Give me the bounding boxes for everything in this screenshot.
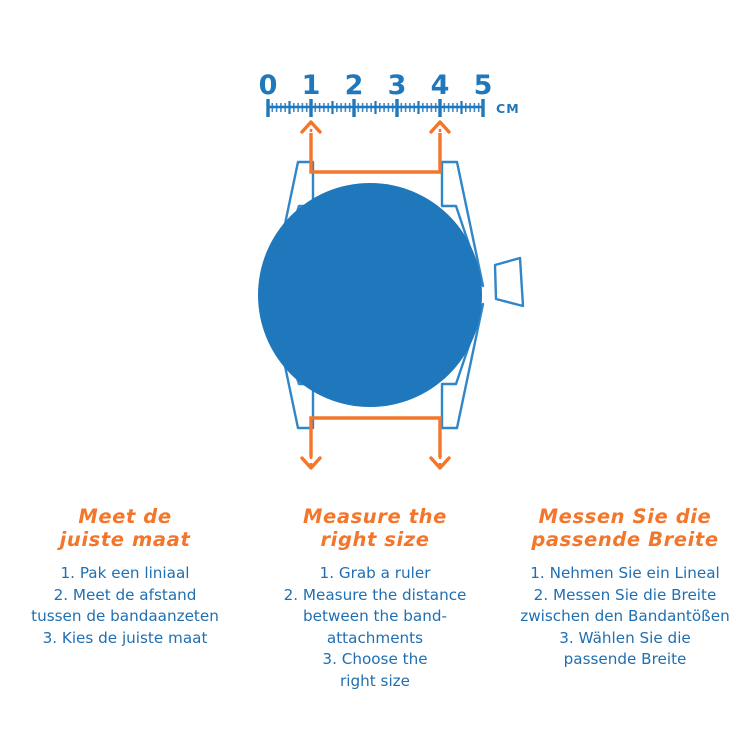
instruction-heading-nl: Meet de juiste maat (6, 505, 244, 551)
watch-illustration (258, 162, 523, 428)
ruler-label-0: 0 (259, 70, 278, 101)
step-line: 3. Wählen Sie die (506, 628, 744, 650)
watch-crown (495, 258, 523, 306)
step-line: 2. Meet de afstand (6, 585, 244, 607)
ruler-label-1: 1 (302, 70, 321, 101)
step-line: 2. Messen Sie die Breite (506, 585, 744, 607)
ruler-label-2: 2 (345, 70, 364, 101)
instruction-heading-en: Measure the right size (256, 505, 494, 551)
ruler-label-4: 4 (431, 70, 450, 101)
instruction-steps-nl: 1. Pak een liniaal 2. Meet de afstand tu… (6, 563, 244, 649)
step-line: right size (256, 671, 494, 693)
instruction-column-en: Measure the right size 1. Grab a ruler 2… (250, 505, 500, 692)
watch-size-guide: 0 1 2 3 4 5 (0, 0, 750, 750)
measure-arrow-top (302, 122, 449, 132)
ruler: 0 1 2 3 4 5 (259, 70, 520, 117)
instruction-columns: Meet de juiste maat 1. Pak een liniaal 2… (0, 505, 750, 725)
step-line: 3. Choose the (256, 649, 494, 671)
ruler-label-5: 5 (474, 70, 493, 101)
instruction-steps-de: 1. Nehmen Sie ein Lineal 2. Messen Sie d… (506, 563, 744, 671)
step-line: tussen de bandaanzeten (6, 606, 244, 628)
measure-dash-bottom (311, 456, 440, 468)
step-line: 2. Measure the distance (256, 585, 494, 607)
step-line: 1. Nehmen Sie ein Lineal (506, 563, 744, 585)
measure-bracket-bottom (311, 418, 440, 457)
measure-dash-top (311, 122, 440, 134)
watch-dial (258, 183, 482, 407)
instruction-heading-de: Messen Sie die passende Breite (506, 505, 744, 551)
step-line: 1. Grab a ruler (256, 563, 494, 585)
step-line: zwischen den Bandantößen (506, 606, 744, 628)
step-line: between the band- (256, 606, 494, 628)
step-line: attachments (256, 628, 494, 650)
ruler-unit-label: CM (496, 101, 520, 116)
instruction-column-de: Messen Sie die passende Breite 1. Nehmen… (500, 505, 750, 671)
step-line: 3. Kies de juiste maat (6, 628, 244, 650)
step-line: passende Breite (506, 649, 744, 671)
ruler-tick-labels: 0 1 2 3 4 5 (259, 70, 493, 101)
ruler-label-3: 3 (388, 70, 407, 101)
measure-arrow-bottom (302, 458, 449, 468)
watch-measurement-diagram: 0 1 2 3 4 5 (0, 0, 750, 500)
measure-bracket-top (311, 133, 440, 172)
instruction-steps-en: 1. Grab a ruler 2. Measure the distance … (256, 563, 494, 692)
instruction-column-nl: Meet de juiste maat 1. Pak een liniaal 2… (0, 505, 250, 649)
step-line: 1. Pak een liniaal (6, 563, 244, 585)
